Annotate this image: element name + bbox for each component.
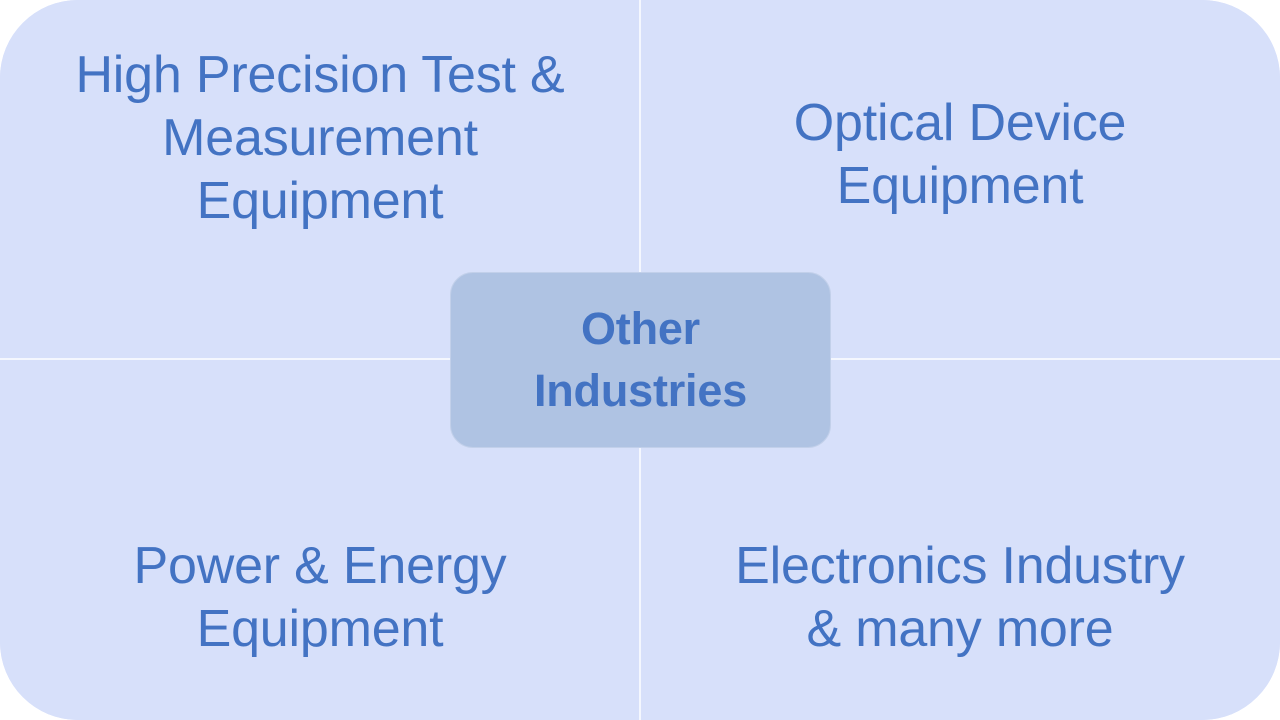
quadrant-label-bottom-right: Electronics Industry & many more (680, 535, 1240, 661)
quadrant-label-bottom-left: Power & Energy Equipment (40, 535, 600, 661)
center-node-label: Other Industries (534, 298, 747, 422)
quadrant-label-top-left: High Precision Test & Measurement Equipm… (40, 44, 600, 233)
quadrant-label-top-right: Optical Device Equipment (680, 92, 1240, 218)
industry-matrix-diagram: High Precision Test & Measurement Equipm… (0, 0, 1280, 720)
center-node-other-industries[interactable]: Other Industries (450, 272, 831, 448)
